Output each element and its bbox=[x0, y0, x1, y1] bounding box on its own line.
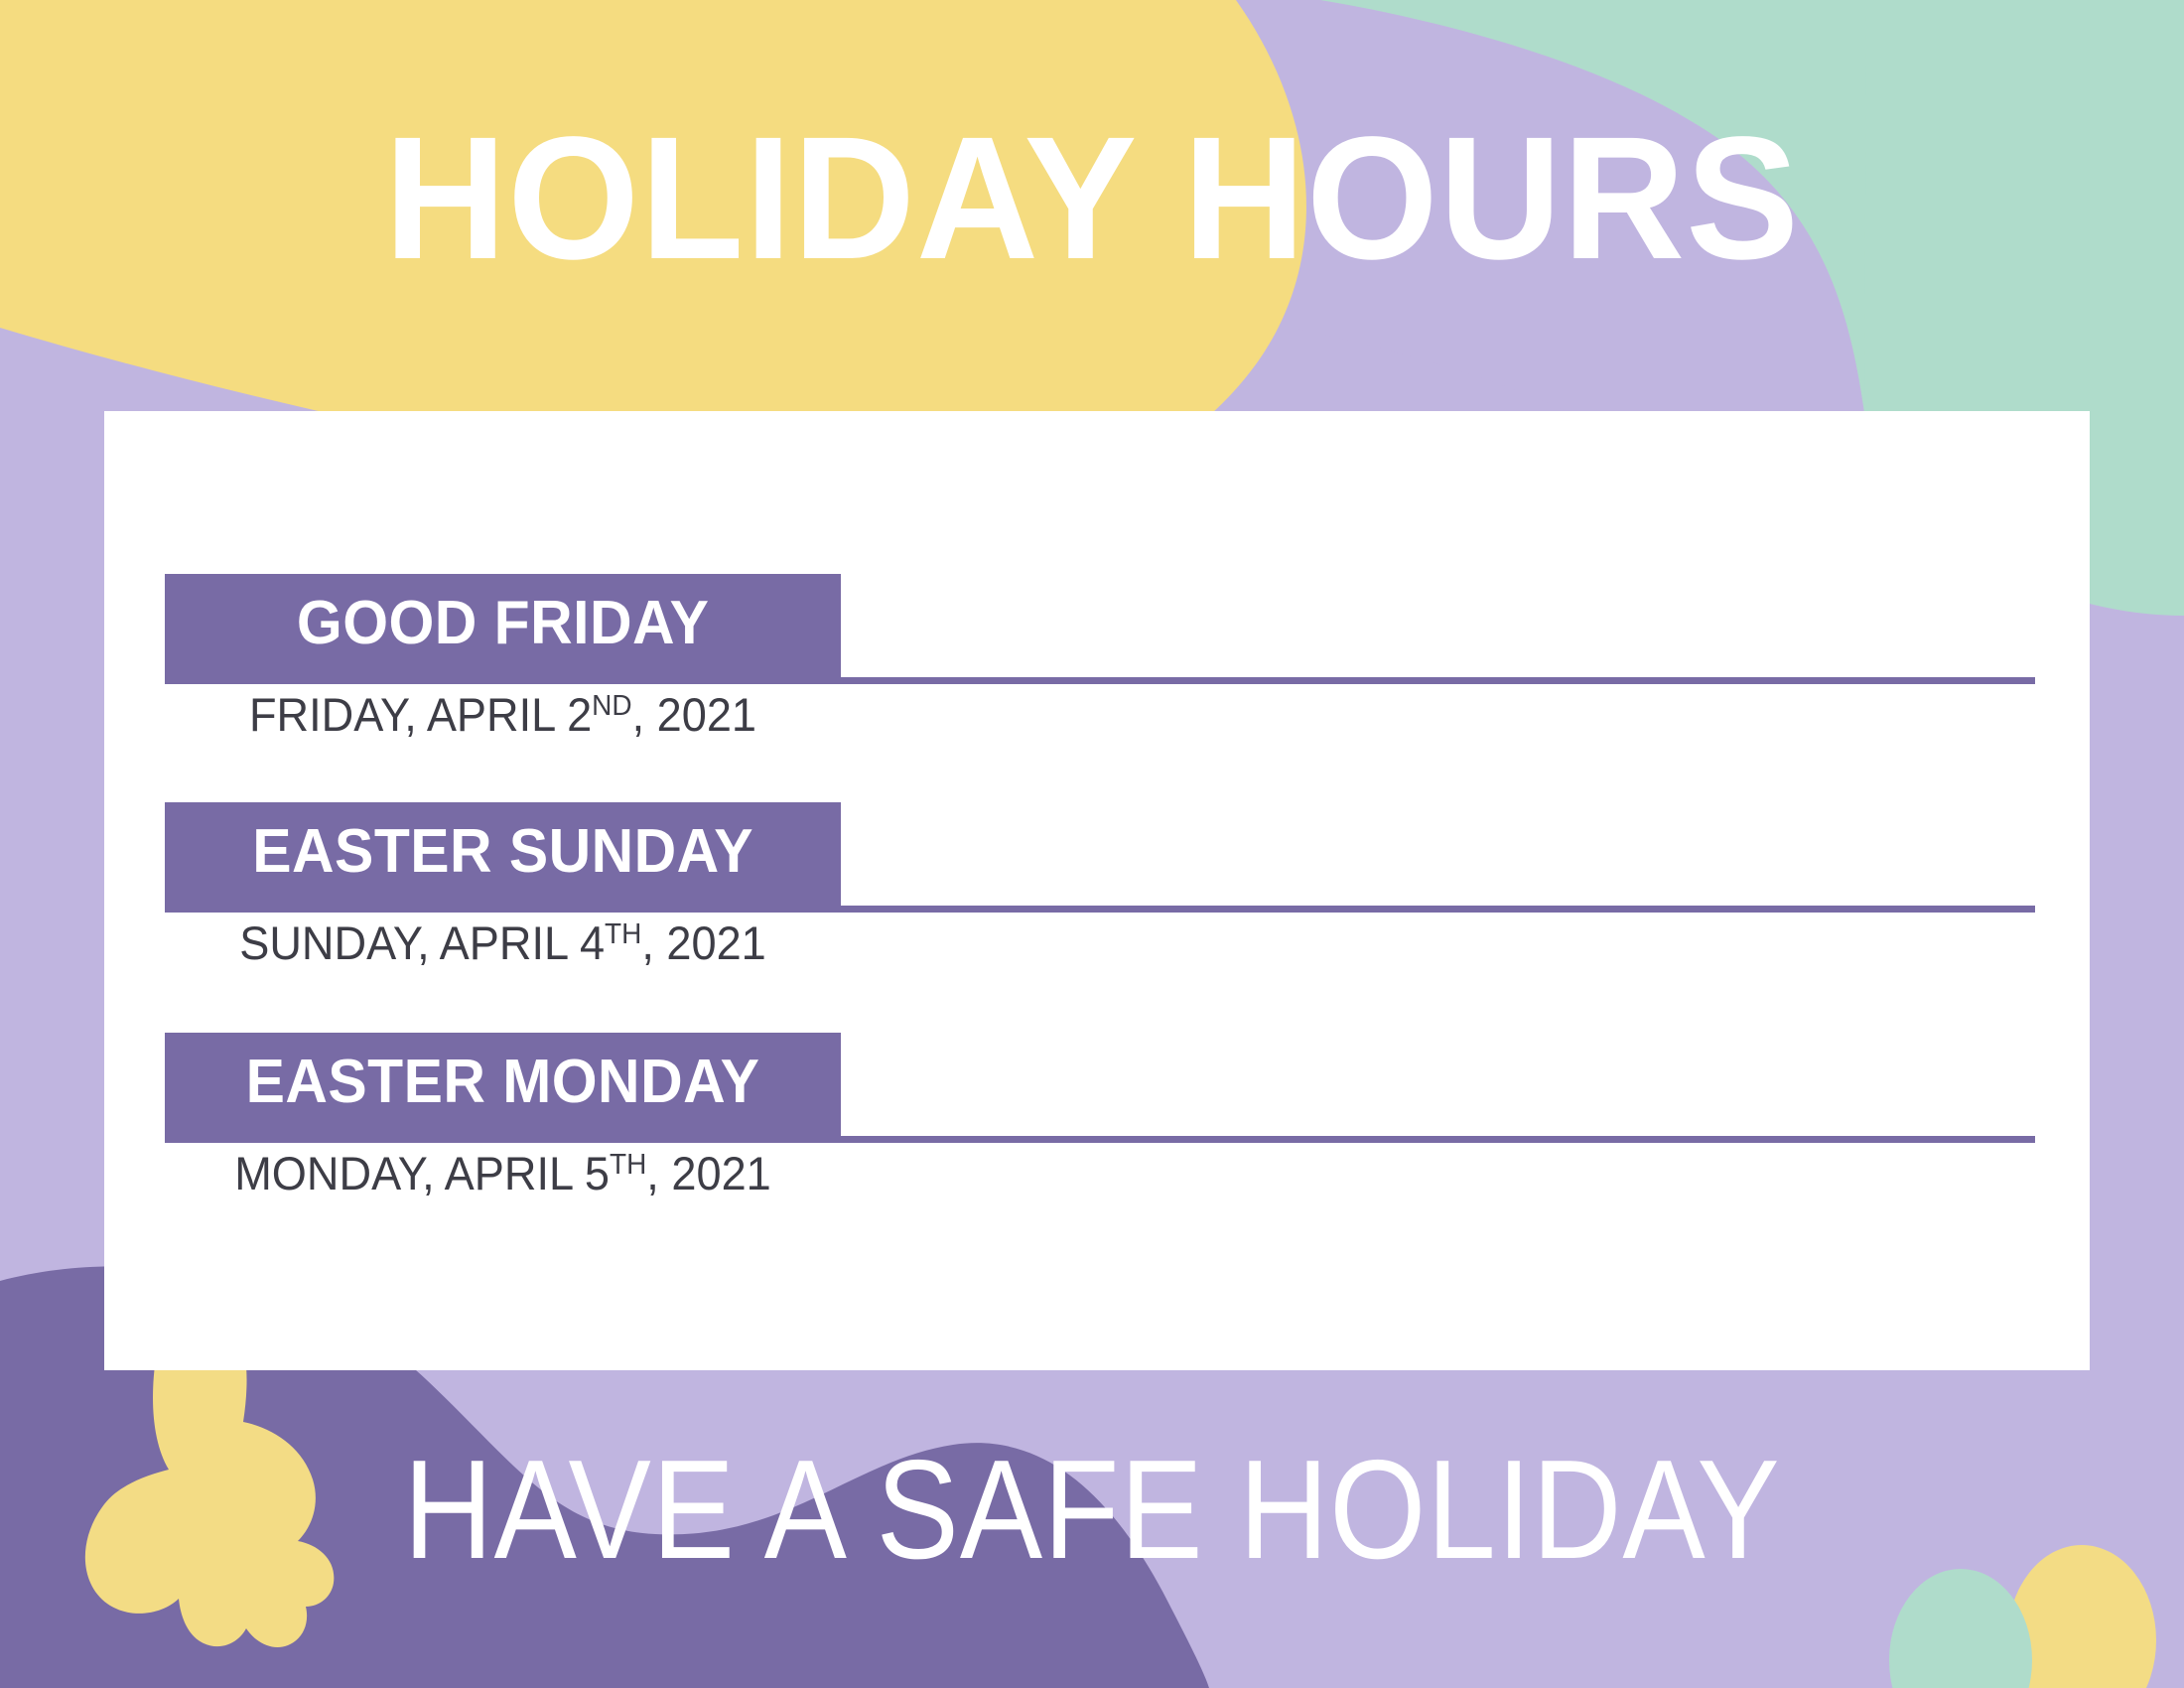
holiday-date-ordinal: TH bbox=[605, 918, 641, 950]
footer-message: HAVE A SAFE HOLIDAY bbox=[131, 1440, 2053, 1581]
holiday-date-prefix: SUNDAY, APRIL 4 bbox=[239, 916, 605, 969]
holiday-date-prefix: FRIDAY, APRIL 2 bbox=[249, 688, 592, 741]
holiday-banner: GOOD FRIDAY bbox=[165, 574, 841, 677]
holiday-hours-poster: HOLIDAY HOURS GOOD FRIDAY FRIDAY, APRIL … bbox=[0, 0, 2184, 1688]
hours-write-in-rule bbox=[165, 906, 2035, 913]
holiday-date: FRIDAY, APRIL 2ND, 2021 bbox=[179, 689, 828, 741]
schedule-row: EASTER SUNDAY SUNDAY, APRIL 4TH, 2021 bbox=[104, 802, 2090, 910]
holiday-banner: EASTER SUNDAY bbox=[165, 802, 841, 906]
holiday-date: SUNDAY, APRIL 4TH, 2021 bbox=[179, 917, 828, 969]
schedule-row: GOOD FRIDAY FRIDAY, APRIL 2ND, 2021 bbox=[104, 574, 2090, 681]
holiday-date-ordinal: TH bbox=[610, 1149, 646, 1181]
holiday-banner-line: EASTER SUNDAY bbox=[104, 802, 2090, 910]
holiday-banner: EASTER MONDAY bbox=[165, 1033, 841, 1136]
holiday-date-suffix: , 2021 bbox=[632, 688, 756, 741]
holiday-name: EASTER SUNDAY bbox=[252, 821, 753, 883]
hours-write-in-rule bbox=[165, 1136, 2035, 1143]
holiday-date-suffix: , 2021 bbox=[641, 916, 765, 969]
holiday-name: GOOD FRIDAY bbox=[297, 593, 709, 654]
holiday-date: MONDAY, APRIL 5TH, 2021 bbox=[179, 1148, 828, 1199]
holiday-banner-line: GOOD FRIDAY bbox=[104, 574, 2090, 681]
hours-write-in-rule bbox=[165, 677, 2035, 684]
holiday-date-suffix: , 2021 bbox=[646, 1147, 770, 1199]
holiday-date-ordinal: ND bbox=[592, 690, 631, 722]
schedule-row: EASTER MONDAY MONDAY, APRIL 5TH, 2021 bbox=[104, 1033, 2090, 1140]
holiday-date-prefix: MONDAY, APRIL 5 bbox=[234, 1147, 610, 1199]
holiday-name: EASTER MONDAY bbox=[246, 1052, 760, 1113]
holiday-banner-line: EASTER MONDAY bbox=[104, 1033, 2090, 1140]
page-title: HOLIDAY HOURS bbox=[33, 111, 2151, 286]
schedule-card: GOOD FRIDAY FRIDAY, APRIL 2ND, 2021 EAST… bbox=[104, 411, 2090, 1370]
schedule-rows: GOOD FRIDAY FRIDAY, APRIL 2ND, 2021 EAST… bbox=[104, 411, 2090, 1370]
